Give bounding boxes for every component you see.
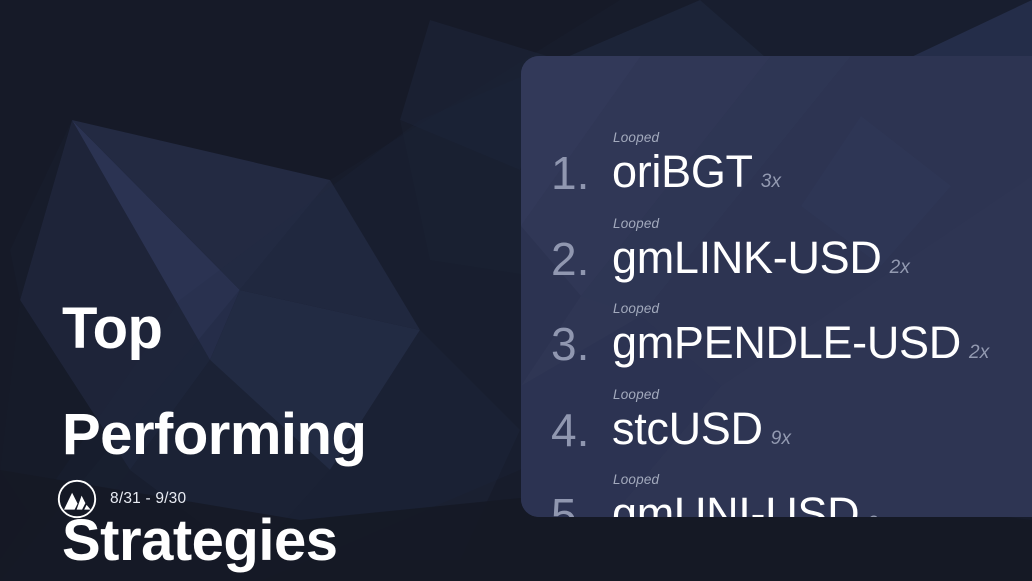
list-item[interactable]: 1. Looped oriBGT 3x: [551, 128, 1032, 214]
brand-and-date-row: 8/31 - 9/30: [57, 479, 186, 519]
leverage-multiplier: 2x: [867, 513, 887, 517]
leverage-multiplier: 3x: [761, 171, 781, 193]
list-item[interactable]: 3. Looped gmPENDLE-USD 2x: [551, 299, 1032, 385]
strategy-name: oriBGT: [612, 144, 753, 200]
rank-number: 2.: [551, 236, 589, 282]
top-strategies-card: 1. Looped oriBGT 3x 2. Looped gmLINK-USD…: [521, 56, 1032, 517]
strategy-name: gmLINK-USD: [612, 230, 882, 286]
strategy-type-label: Looped: [613, 472, 659, 487]
promo-graphic: Top Performing Strategies 8/31 - 9/30: [0, 0, 1032, 581]
list-item[interactable]: 5. Looped gmUNI-USD 2x: [551, 470, 1032, 517]
strategy-type-label: Looped: [613, 216, 659, 231]
rank-number: 4.: [551, 407, 589, 453]
strategy-name: gmUNI-USD: [612, 486, 859, 517]
strategy-name-row: oriBGT 3x: [612, 144, 781, 200]
strategy-name: stcUSD: [612, 401, 763, 457]
leverage-multiplier: 2x: [890, 257, 910, 279]
leverage-multiplier: 2x: [969, 342, 989, 364]
page-title: Top Performing Strategies: [62, 249, 502, 581]
title-line-2: Performing: [62, 408, 502, 461]
list-item[interactable]: 2. Looped gmLINK-USD 2x: [551, 214, 1032, 300]
rank-number: 1.: [551, 150, 589, 196]
title-line-3: Strategies: [62, 514, 502, 567]
strategy-type-label: Looped: [613, 130, 659, 145]
rank-number: 5.: [551, 492, 589, 517]
title-text: Top Performing Strategies: [62, 249, 502, 581]
strategy-name-row: stcUSD 9x: [612, 401, 791, 457]
strategy-name-row: gmPENDLE-USD 2x: [612, 315, 989, 371]
strategy-name: gmPENDLE-USD: [612, 315, 961, 371]
list-item[interactable]: 4. Looped stcUSD 9x: [551, 385, 1032, 471]
rank-number: 3.: [551, 321, 589, 367]
title-line-1: Top: [62, 302, 502, 355]
strategy-name-row: gmUNI-USD 2x: [612, 486, 888, 517]
mountain-circle-logo-icon: [57, 479, 97, 519]
date-range-label: 8/31 - 9/30: [110, 491, 186, 507]
strategy-name-row: gmLINK-USD 2x: [612, 230, 910, 286]
strategy-type-label: Looped: [613, 387, 659, 402]
leverage-multiplier: 9x: [771, 428, 791, 450]
strategy-type-label: Looped: [613, 301, 659, 316]
